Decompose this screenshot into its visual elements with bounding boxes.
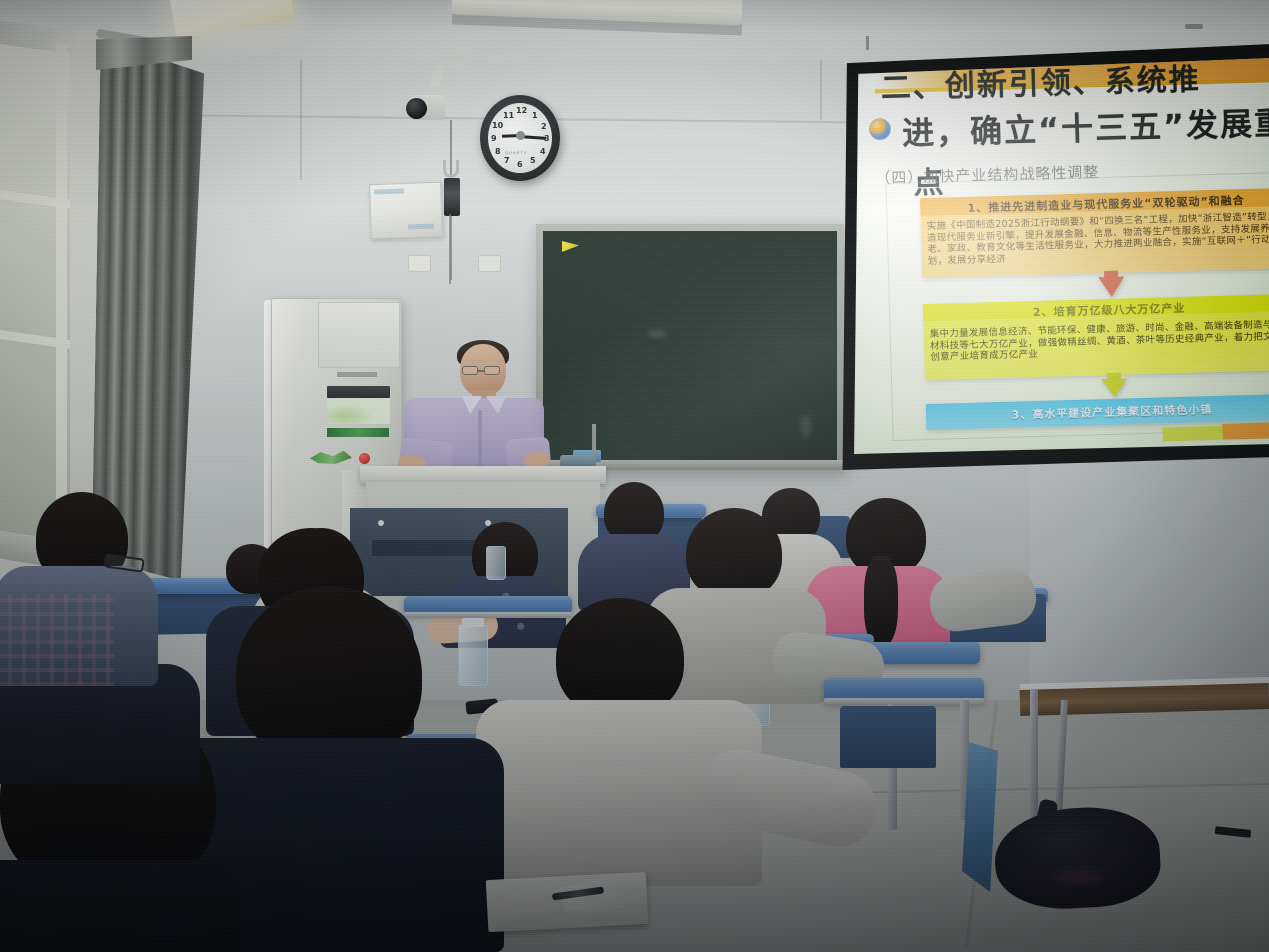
- glasses-icon: [462, 366, 478, 375]
- slide-content: 二、创新引领、系统推 进，确立“十三五”发展重 点 （四）加快产业结构战略性调整…: [852, 58, 1269, 454]
- air-conditioner-decal: [327, 398, 390, 424]
- arrow-down-icon: [1101, 378, 1127, 397]
- slide-footer-accent: [1222, 422, 1269, 440]
- wall-box-label: [374, 188, 404, 194]
- slide-title-line-2: 进，确立“十三五”发展重: [901, 98, 1269, 155]
- gooseneck-microphone: [592, 426, 595, 456]
- clock-numeral: 9: [491, 134, 497, 143]
- slide-box-1: 1、推进先进制造业与现代服务业“双轮驱动”和融合 实施《中国制造2025浙江行动…: [920, 188, 1269, 278]
- globe-bullet-icon: [870, 119, 891, 140]
- glasses-bridge: [478, 370, 484, 372]
- chair-support-pole: [1030, 690, 1038, 820]
- air-conditioner-brand: [337, 372, 377, 377]
- wall-socket[interactable]: [408, 255, 431, 272]
- chalkboard: [543, 231, 837, 463]
- hanging-adapter: [444, 178, 460, 216]
- clock-brand-text: QUARTZ: [505, 150, 527, 155]
- wall-seam-vertical: [300, 60, 302, 180]
- wall-socket[interactable]: [478, 255, 501, 272]
- slide-box-1-body: 实施《中国制造2025浙江行动纲要》和“四换三名”工程，加快“浙江智造”转型，打…: [921, 209, 1269, 269]
- wall-seam-vertical-2: [820, 60, 822, 120]
- camera-lens-icon: [406, 98, 427, 119]
- clock-numeral: 6: [517, 160, 523, 169]
- desk-edge: [404, 612, 572, 618]
- wall-box-label: [408, 224, 434, 230]
- air-conditioner-top-panel: [318, 302, 400, 368]
- power-indicator-icon[interactable]: [359, 453, 370, 464]
- arrow-down-icon: [1098, 276, 1125, 297]
- clock-numeral: 4: [540, 147, 546, 156]
- clock-numeral: 5: [530, 156, 536, 165]
- clock-numeral: 12: [516, 106, 527, 115]
- clock-numeral: 1: [532, 111, 538, 120]
- chalk-smudge: [648, 330, 666, 338]
- window-mullion: [56, 44, 67, 546]
- clock-numeral: 10: [492, 121, 503, 130]
- chalk-smudge: [800, 415, 812, 437]
- clock-numeral: 2: [541, 122, 547, 131]
- presenter-shirt-placket: [478, 410, 482, 468]
- water-bottle[interactable]: [458, 624, 488, 686]
- plaid-pattern: [0, 594, 114, 686]
- cable-hook-icon: [443, 160, 459, 178]
- glasses-icon: [484, 366, 500, 375]
- clock-numeral: 7: [504, 156, 510, 165]
- podium-indicator: [378, 520, 384, 526]
- screen-hanger: [866, 36, 869, 50]
- clock-center-cap: [516, 131, 525, 140]
- screen-hanger: [1185, 24, 1203, 29]
- student-torso: [0, 860, 240, 952]
- student-ponytail: [864, 556, 898, 646]
- slide-box-2: 2、培育万亿级八大万亿产业 集中力量发展信息经济、节能环保、健康、旅游、时尚、金…: [923, 294, 1269, 380]
- bottle-cap: [462, 618, 484, 627]
- water-bottle[interactable]: [486, 546, 506, 580]
- classroom-photo: 12 1 2 3 4 5 6 7 8 9 10 11 QUARTZ 二、创新引领…: [0, 0, 1269, 952]
- student-head: [686, 508, 782, 600]
- slide-box-2-body: 集中力量发展信息经济、节能环保、健康、旅游、时尚、金融、高端装备制造与教材科技等…: [923, 315, 1269, 368]
- clock-numeral: 8: [495, 147, 501, 156]
- backpack-highlight: [1055, 870, 1103, 884]
- air-conditioner-green-bar: [327, 428, 389, 437]
- hanging-cable: [449, 214, 451, 284]
- slide-footer-accent: [1162, 426, 1222, 442]
- seat-back: [840, 706, 936, 768]
- air-outlet-vent: [327, 386, 390, 398]
- clock-numeral: 11: [503, 111, 514, 120]
- camera-mount-bracket: [442, 52, 466, 69]
- projection-screen: 二、创新引领、系统推 进，确立“十三五”发展重 点 （四）加快产业结构战略性调整…: [852, 58, 1269, 454]
